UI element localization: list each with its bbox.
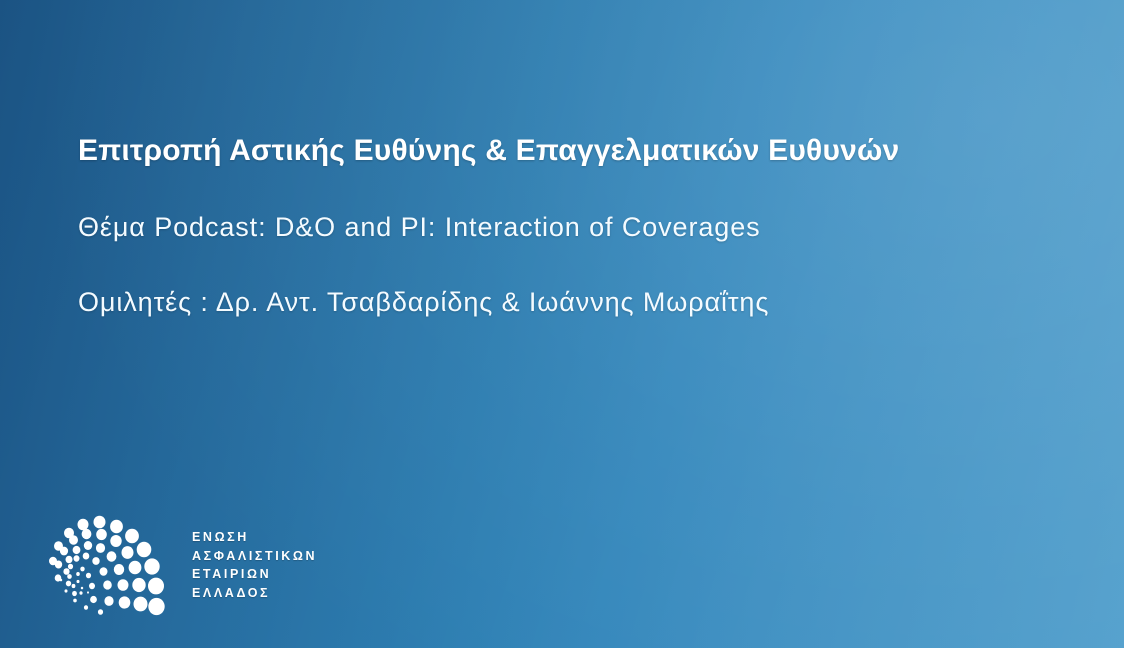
podcast-title-slide: Επιτροπή Αστικής Ευθύνης & Επαγγελματικώ…: [0, 0, 1124, 648]
slide-text-block: Επιτροπή Αστικής Ευθύνης & Επαγγελματικώ…: [78, 132, 1078, 320]
organization-wordmark: ΕΝΩΣΗ ΑΣΦΑΛΙΣΤΙΚΩΝ ΕΤΑΙΡΙΩΝ ΕΛΛΑΔΟΣ: [192, 529, 317, 599]
organization-logo: ΕΝΩΣΗ ΑΣΦΑΛΙΣΤΙΚΩΝ ΕΤΑΙΡΙΩΝ ΕΛΛΑΔΟΣ: [48, 508, 317, 620]
speakers-line: Ομιλητές : Δρ. Αντ. Τσαβδαρίδης & Ιωάννη…: [78, 285, 1078, 320]
page-title: Επιτροπή Αστικής Ευθύνης & Επαγγελματικώ…: [78, 132, 1078, 170]
logo-line-2: ΑΣΦΑΛΙΣΤΙΚΩΝ: [192, 550, 317, 563]
logo-line-3: ΕΤΑΙΡΙΩΝ: [192, 568, 317, 581]
logo-line-1: ΕΝΩΣΗ: [192, 531, 317, 544]
logo-line-4: ΕΛΛΑΔΟΣ: [192, 587, 317, 600]
podcast-topic-line: Θέμα Podcast: D&O and PI: Interaction of…: [78, 210, 1078, 245]
spiral-dots-logo-icon: [48, 508, 168, 620]
